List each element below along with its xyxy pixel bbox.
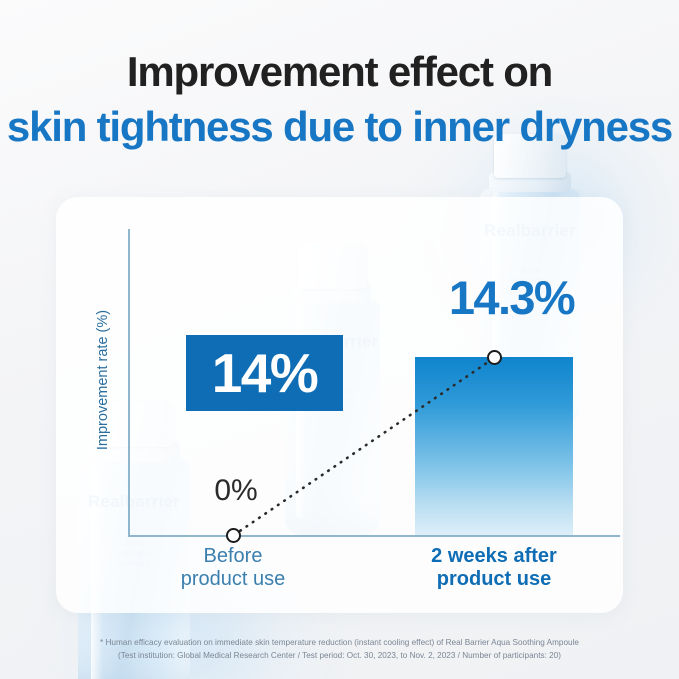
footnote-line-1: * Human efficacy evaluation on immediate… xyxy=(0,636,679,649)
bar-2-weeks-after xyxy=(415,357,573,535)
x-tick-label-after: 2 weeks after product use xyxy=(406,545,582,591)
y-axis-line xyxy=(128,229,130,537)
x-axis-line xyxy=(128,535,620,537)
x-tick-label-before: Before product use xyxy=(155,545,311,591)
y-axis-label: Improvement rate (%) xyxy=(95,270,111,490)
highlight-badge-14-percent: 14% xyxy=(186,335,343,411)
promo-infographic: Realbarrier AQUASOOTHINGAMPOULE Realbarr… xyxy=(0,0,679,679)
x-tick-after-line2: product use xyxy=(406,568,582,591)
data-point-before xyxy=(226,528,241,543)
x-tick-before-line2: product use xyxy=(155,568,311,591)
data-point-after xyxy=(487,350,502,365)
value-label-before: 0% xyxy=(201,476,271,506)
value-label-after: 14.3% xyxy=(424,274,599,321)
footnote-line-2: (Test institution: Global Medical Resear… xyxy=(0,649,679,662)
headline-line-1: Improvement effect on xyxy=(0,48,679,96)
x-tick-after-line1: 2 weeks after xyxy=(406,545,582,568)
headline-line-2: skin tightness due to inner dryness xyxy=(0,103,679,151)
bottle-neck xyxy=(489,172,571,192)
x-tick-before-line1: Before xyxy=(155,545,311,568)
